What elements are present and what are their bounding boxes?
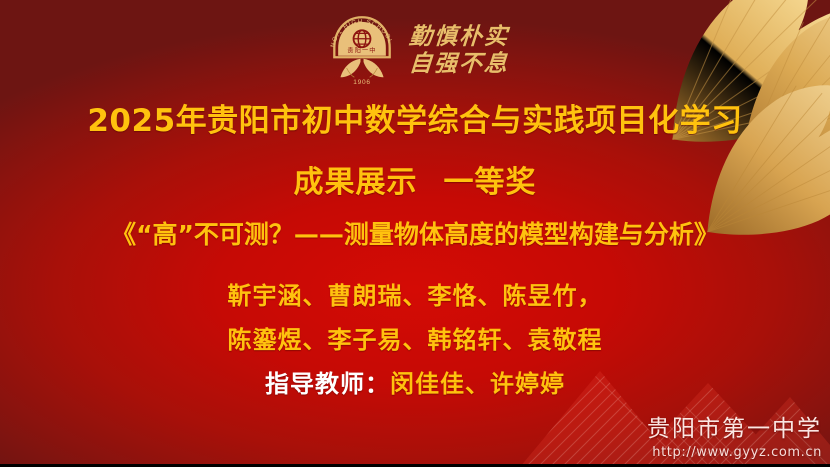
presentation-slide: NO.1 HIGH SCHOOL 贵阳一中 1906 勤慎朴实 自强不息 202…: [0, 0, 830, 467]
footer-school-name: 贵阳市第一中学: [647, 418, 822, 441]
svg-text:贵阳一中: 贵阳一中: [347, 47, 376, 55]
award-subtitle-left: 成果展示: [294, 165, 418, 200]
ginkgo-leaf-icon: [700, 58, 830, 243]
award-subtitle: 成果展示一等奖: [0, 164, 830, 202]
advisor-names: 闵佳佳、许婷婷: [390, 370, 565, 398]
school-motto: 勤慎朴实 自强不息: [409, 20, 509, 77]
motto-line-2: 自强不息: [408, 51, 510, 77]
page-title: 2025年贵阳市初中数学综合与实践项目化学习: [0, 102, 830, 140]
svg-text:1906: 1906: [353, 79, 371, 86]
student-names-line-2: 陈鎏煜、李子易、韩铭轩、袁敬程: [0, 324, 830, 356]
advisor-line: 指导教师：闵佳佳、许婷婷: [0, 368, 830, 400]
project-title: 《“高”不可测？——测量物体高度的模型构建与分析》: [0, 218, 830, 252]
award-subtitle-right: 一等奖: [444, 165, 537, 200]
student-names-line-1: 靳宇涵、曹朗瑞、李恪、陈昱竹，: [0, 280, 830, 312]
motto-line-1: 勤慎朴实: [408, 24, 510, 50]
footer-website-url[interactable]: http://www.gyyz.com.cn: [647, 446, 822, 459]
footer-brand: 贵阳市第一中学 http://www.gyyz.com.cn: [647, 418, 822, 459]
school-crest-icon: NO.1 HIGH SCHOOL 贵阳一中 1906: [323, 8, 401, 88]
school-logo-block: NO.1 HIGH SCHOOL 贵阳一中 1906 勤慎朴实 自强不息: [323, 8, 509, 88]
advisor-label: 指导教师：: [265, 370, 390, 398]
ginkgo-leaf-icon: [735, 0, 830, 174]
